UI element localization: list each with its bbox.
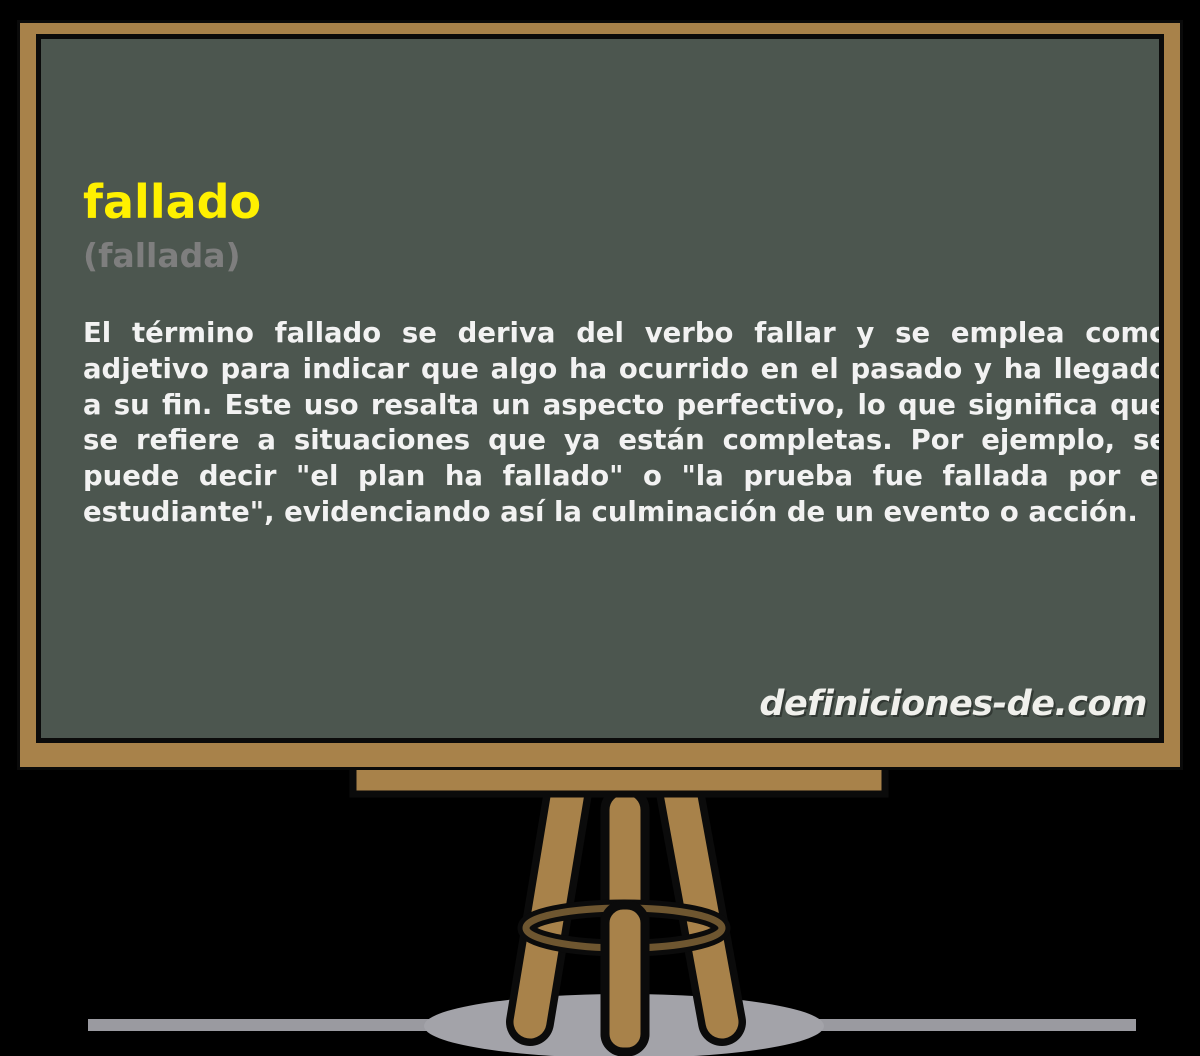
- board-content: fallado (fallada) El término fallado se …: [83, 179, 1129, 531]
- term-title: fallado: [83, 179, 1129, 225]
- definition-paragraph: El término fallado se deriva del verbo f…: [83, 316, 1164, 531]
- blackboard-surface: fallado (fallada) El término fallado se …: [36, 34, 1164, 743]
- site-watermark: definiciones-de.com: [759, 684, 1147, 724]
- blackboard-frame: fallado (fallada) El término fallado se …: [17, 20, 1183, 770]
- term-variant: (fallada): [83, 239, 1129, 272]
- easel-leg-center-front: [605, 905, 645, 1052]
- easel-blackboard-scene: fallado (fallada) El término fallado se …: [0, 0, 1200, 1056]
